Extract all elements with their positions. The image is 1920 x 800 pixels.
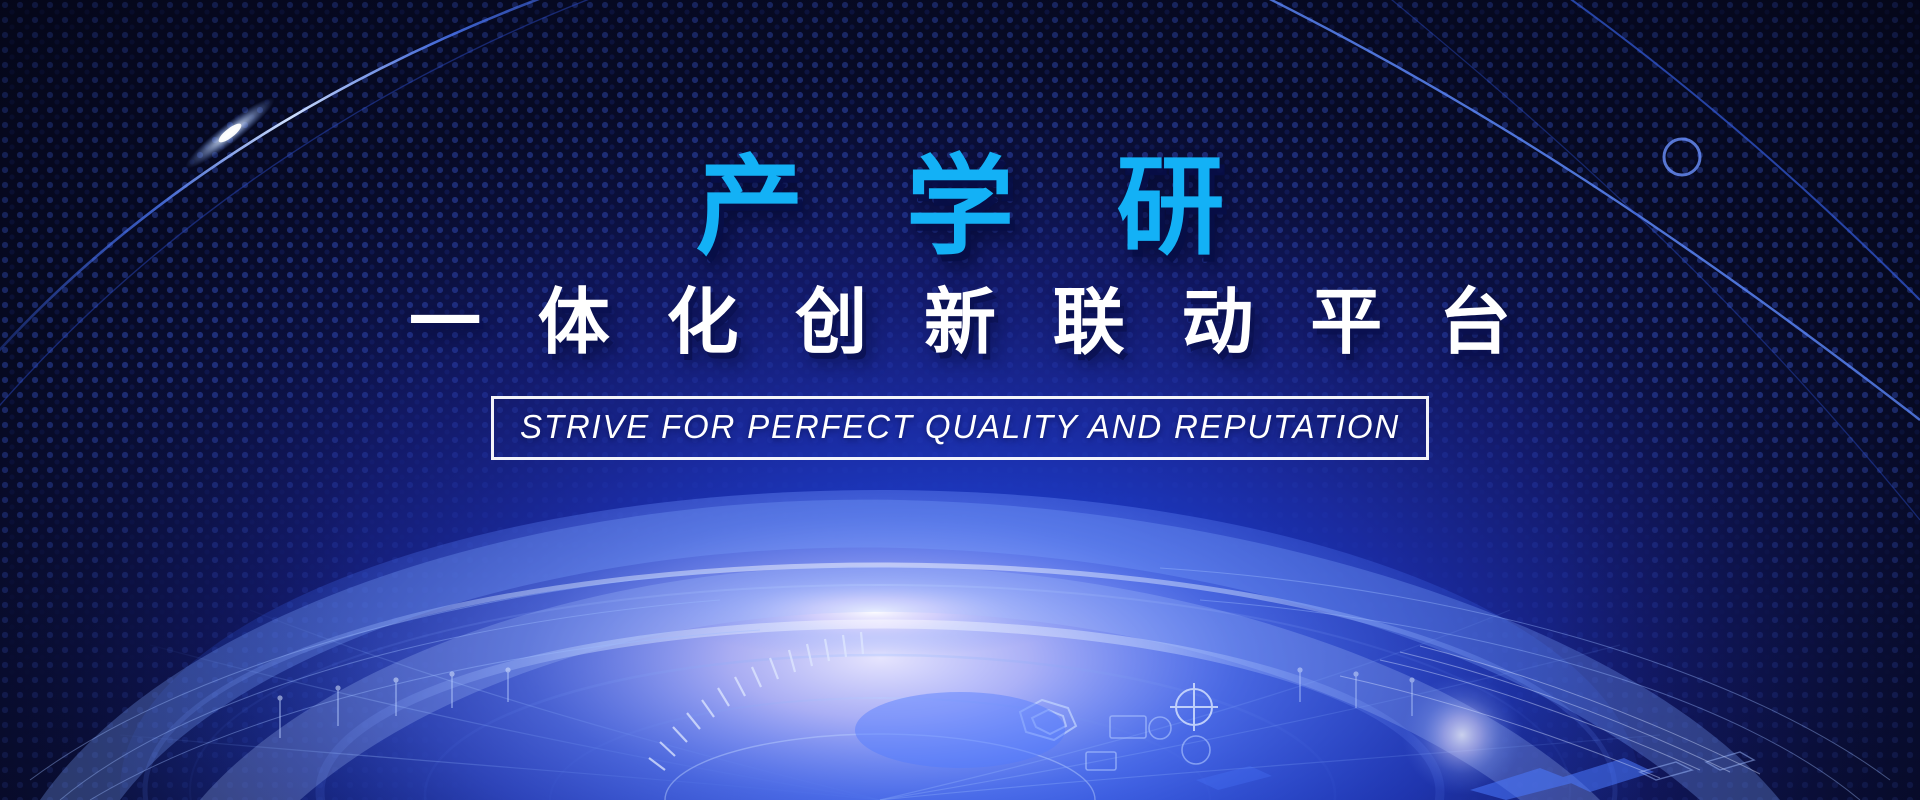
- globe-inner-disc: [855, 692, 1065, 768]
- globe-clip-group: [30, 490, 1890, 800]
- banner-root: 产 学 研 一 体 化 创 新 联 动 平 台 STRIVE FOR PERFE…: [0, 0, 1920, 800]
- tagline-wrapper: STRIVE FOR PERFECT QUALITY AND REPUTATIO…: [0, 396, 1920, 460]
- page-title-main: 产 学 研: [0, 150, 1920, 267]
- banner-content: 产 学 研 一 体 化 创 新 联 动 平 台 STRIVE FOR PERFE…: [0, 0, 1920, 460]
- english-tagline: STRIVE FOR PERFECT QUALITY AND REPUTATIO…: [520, 408, 1400, 446]
- globe-side-orb: [1402, 675, 1522, 795]
- tagline-box: STRIVE FOR PERFECT QUALITY AND REPUTATIO…: [491, 396, 1429, 460]
- page-title-sub: 一 体 化 创 新 联 动 平 台: [0, 283, 1920, 362]
